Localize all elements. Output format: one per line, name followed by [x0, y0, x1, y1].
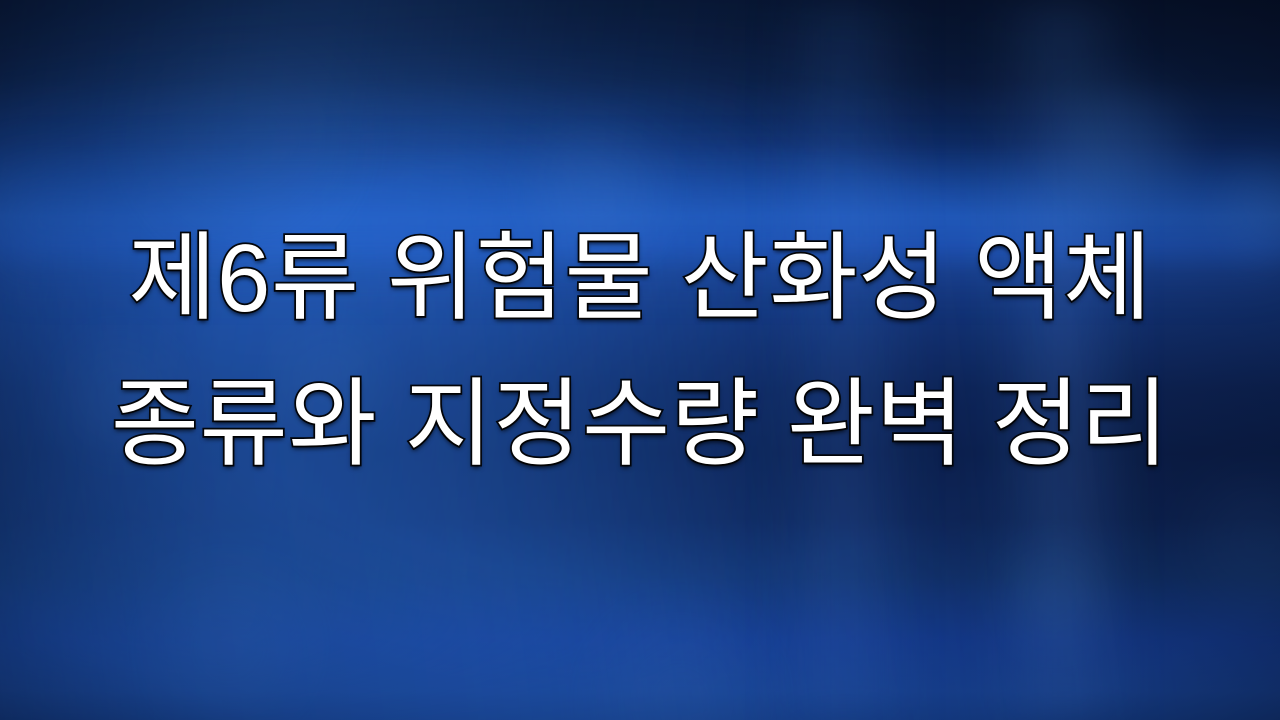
bokeh-top-right	[1055, 75, 1195, 215]
title-line-2: 종류와 지정수량 완벽 정리	[0, 352, 1280, 498]
bokeh-lower-left	[140, 558, 320, 720]
title-block: 제6류 위험물 산화성 액체 종류와 지정수량 완벽 정리	[0, 206, 1280, 498]
thumbnail-canvas: 제6류 위험물 산화성 액체 종류와 지정수량 완벽 정리	[0, 0, 1280, 720]
title-line-1: 제6류 위험물 산화성 액체	[0, 206, 1280, 352]
bokeh-bottom-right	[1000, 545, 1110, 655]
bokeh-lower-center	[585, 605, 775, 720]
